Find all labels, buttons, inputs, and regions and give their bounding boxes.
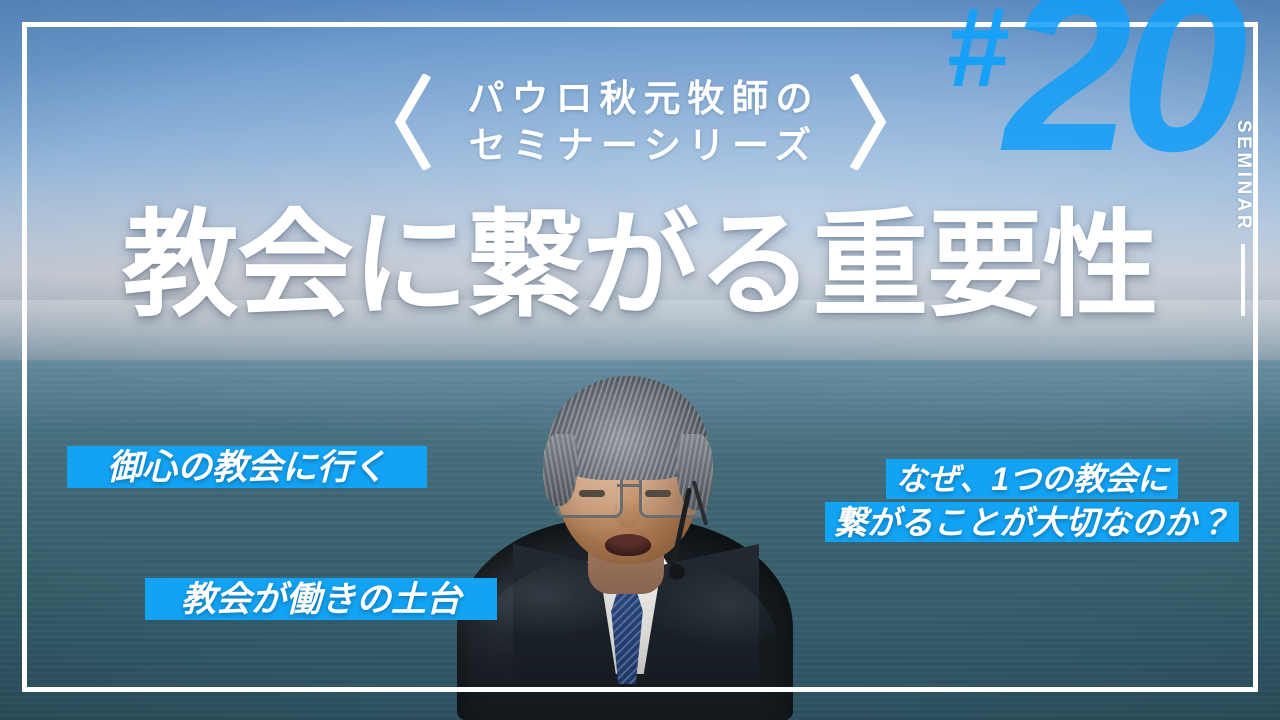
hash-icon: # [946,0,1006,104]
speaker-hair-side-left [543,434,577,506]
caption-badge-left-1-text: 御心の教会に行く [107,450,387,485]
headset-microphone-capsule [669,564,685,580]
series-subtitle-line-1: パウロ秋元牧師の [461,78,820,119]
caption-badge-left-2: 教会が働きの土台 [145,578,497,620]
seminar-vertical-label: SEMINAR [1232,120,1254,316]
seminar-label-rule [1241,244,1245,316]
caption-badge-right-line-1: なぜ、1つの教会に [886,459,1178,499]
series-subtitle-line-2: セミナーシリーズ [461,125,820,166]
glasses-bridge [617,484,641,487]
caption-badge-left-2-text: 教会が働きの土台 [181,582,461,617]
thumbnail-canvas: # 20 SEMINAR パウロ秋元牧師の セミナーシリーズ 教会に繋がる重要性… [0,0,1280,720]
caption-badge-right-line-1-text: なぜ、1つの教会に [895,463,1169,495]
seminar-label-text: SEMINAR [1232,120,1254,232]
caption-badge-right-line-2: 繋がることが大切なのか？ [825,502,1239,542]
page-title: 教会に繋がる重要性 [0,207,1280,323]
episode-number-group: # 20 [946,0,1236,186]
speaker-mouth [605,534,651,556]
speaker-portrait [455,368,795,720]
right-chevron-icon [850,74,888,170]
speaker-hair-side-right [677,434,713,510]
caption-badge-left-1: 御心の教会に行く [67,446,427,488]
left-chevron-icon [393,74,431,170]
caption-badge-right: なぜ、1つの教会に 繋がることが大切なのか？ [825,459,1239,542]
caption-badge-right-line-2-text: 繋がることが大切なのか？ [834,506,1230,539]
episode-number: 20 [1004,0,1236,186]
series-subtitle-lines: パウロ秋元牧師の セミナーシリーズ [461,78,820,167]
